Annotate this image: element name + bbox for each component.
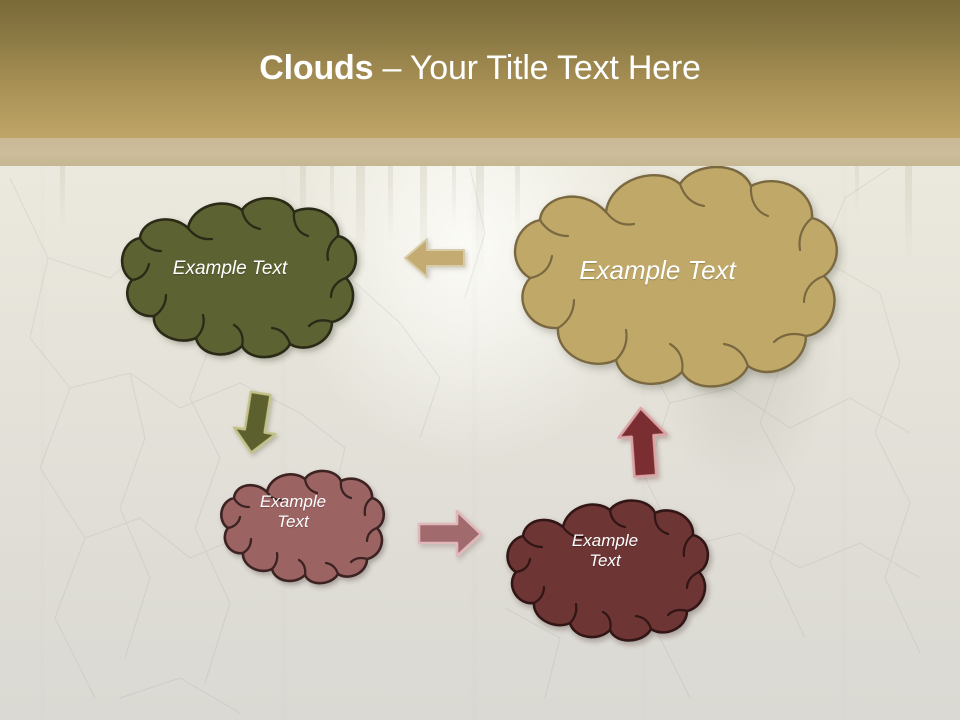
header-accent-band [0, 138, 960, 166]
page-title-rest: – Your Title Text Here [373, 49, 700, 87]
cloud-tan[interactable] [498, 160, 843, 392]
page-title-bold: Clouds [259, 49, 373, 87]
arrow-down-icon[interactable] [226, 386, 286, 459]
cloud-darkred[interactable] [497, 497, 713, 645]
page-title: Clouds – Your Title Text Here [0, 47, 960, 89]
arrow-left-icon[interactable] [402, 236, 468, 284]
arrow-right-icon[interactable] [415, 506, 485, 562]
slide-canvas: Clouds – Your Title Text Here [0, 0, 960, 720]
cloud-mauve[interactable] [213, 468, 389, 586]
arrow-up-icon[interactable] [611, 402, 674, 482]
cloud-olive[interactable] [110, 194, 364, 358]
slide-header: Clouds – Your Title Text Here [0, 0, 960, 138]
